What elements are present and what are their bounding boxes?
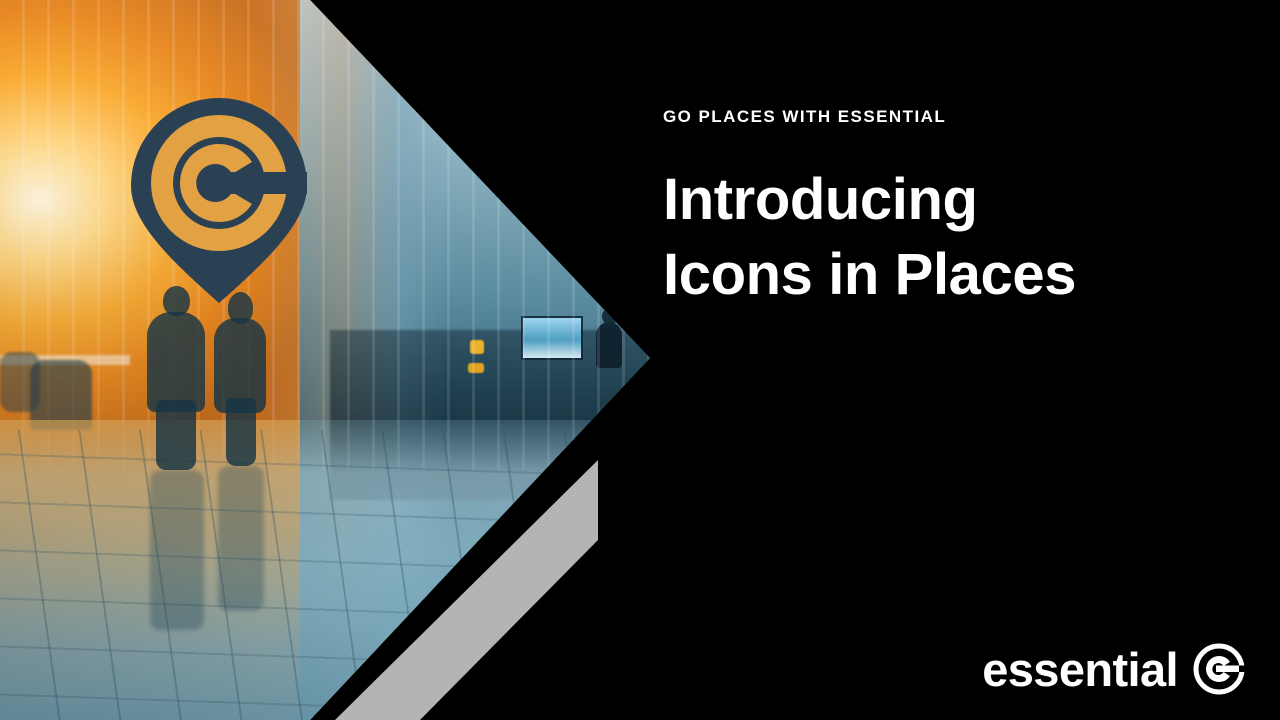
brand-lockup: essential <box>982 642 1246 696</box>
essential-map-pin-logo <box>131 98 307 303</box>
presentation-slide: GO PLACES WITH ESSENTIAL Introducing Ico… <box>0 0 1280 720</box>
page-title: Introducing Icons in Places <box>663 163 1223 313</box>
photo-haze-overlay <box>0 0 650 720</box>
headline-line-1: Introducing <box>663 163 1223 238</box>
essential-e-circle-icon <box>1192 642 1246 696</box>
hero-image-panel <box>0 0 650 720</box>
brand-wordmark: essential <box>982 646 1178 693</box>
eyebrow-text: GO PLACES WITH ESSENTIAL <box>663 108 1223 125</box>
slide-text-column: GO PLACES WITH ESSENTIAL Introducing Ico… <box>663 108 1223 313</box>
headline-line-2: Icons in Places <box>663 238 1223 313</box>
office-lobby-photo <box>0 0 650 720</box>
